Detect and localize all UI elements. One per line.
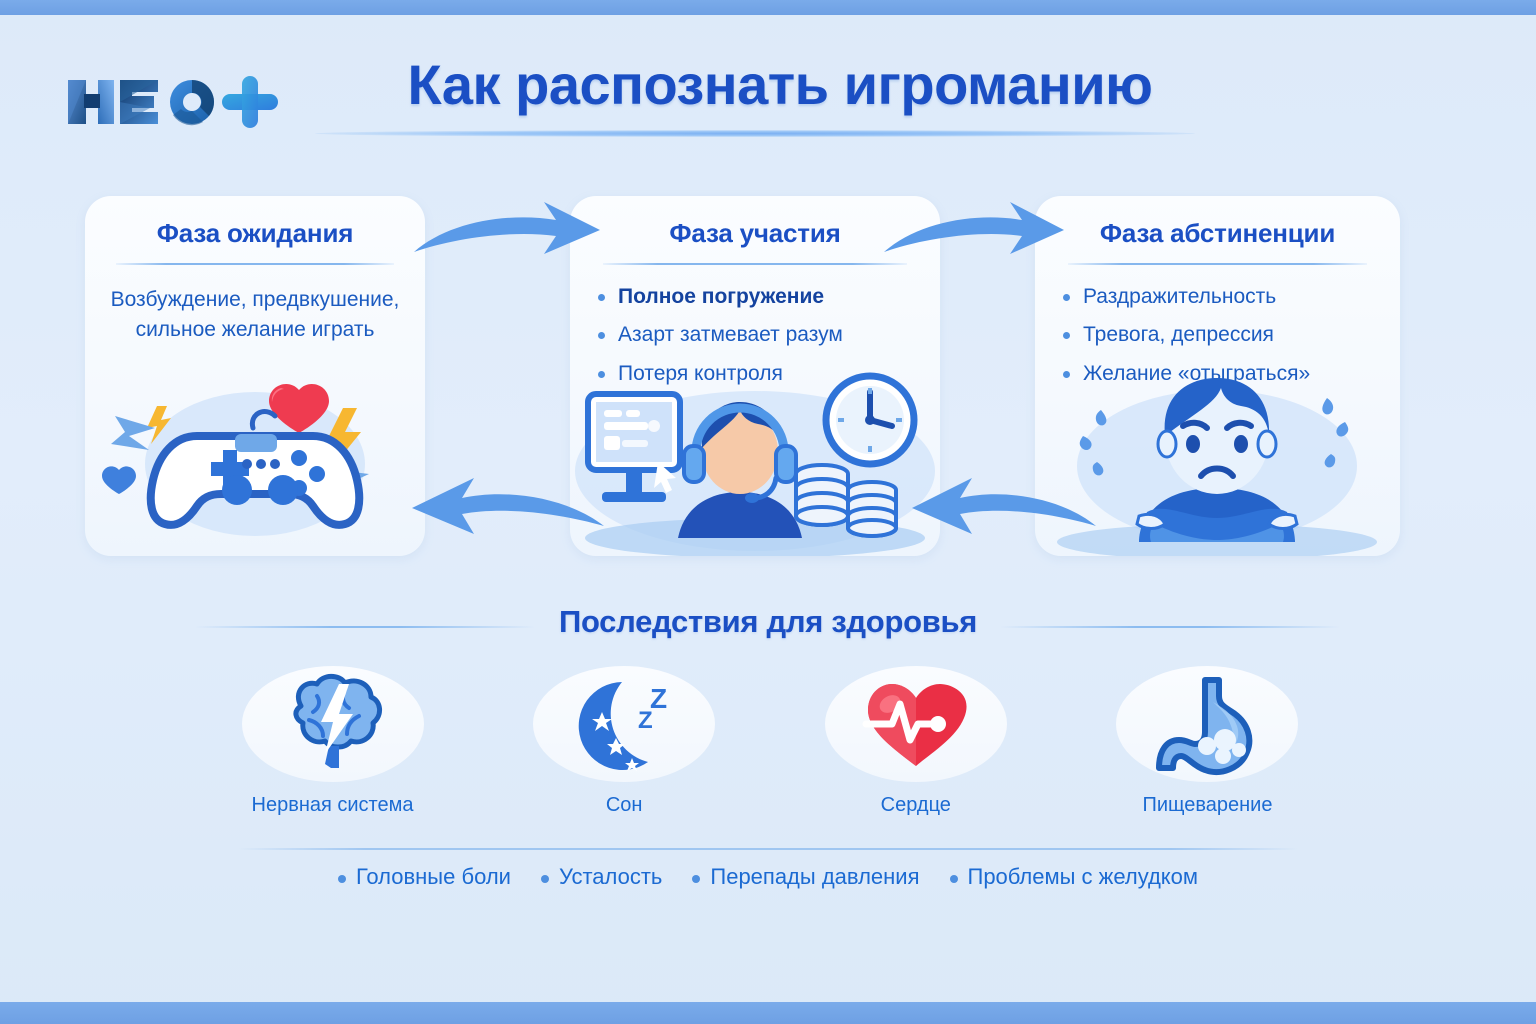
bottom-accent-bar <box>0 1002 1536 1024</box>
header: Как распознать игроманию <box>0 30 1536 130</box>
arrow-phase1-to-phase2 <box>408 196 608 266</box>
phase-card-lead: Возбуждение, предвкушение, сильное желан… <box>85 285 425 345</box>
stomach-icon <box>1149 672 1265 776</box>
symptom-item: Перепады давления <box>692 864 919 890</box>
symptom-item: Проблемы с желудком <box>950 864 1199 890</box>
list-item: Азарт затмевает разум <box>596 321 930 348</box>
icon-blob <box>825 666 1007 782</box>
phase-card-divider <box>1068 263 1367 265</box>
heading-rule-right <box>1000 626 1340 628</box>
health-item-label: Сон <box>606 794 643 817</box>
arrow-phase3-to-phase2 <box>900 468 1100 546</box>
svg-text:Z: Z <box>638 707 653 734</box>
health-icon-row: Нервная система Z Z Сон <box>225 666 1315 841</box>
arrow-phase2-to-phase3 <box>880 196 1070 266</box>
health-item-digestion[interactable]: Пищеварение <box>1100 666 1315 841</box>
health-item-nervous-system[interactable]: Нервная система <box>225 666 440 841</box>
phase-card-title: Фаза абстиненции <box>1035 218 1400 249</box>
phase-card-title: Фаза ожидания <box>85 218 425 249</box>
symptoms-divider <box>238 848 1298 850</box>
health-item-label: Сердце <box>881 794 951 817</box>
title-divider <box>315 130 1195 137</box>
health-item-label: Нервная система <box>252 794 414 817</box>
gamepad-hearts-illustration <box>85 366 425 556</box>
icon-blob: Z Z <box>533 666 715 782</box>
page-title: Как распознать игроманию <box>330 52 1230 117</box>
symptom-item: Головные боли <box>338 864 511 890</box>
list-item: Раздражительность <box>1061 283 1390 310</box>
consequences-heading: Последствия для здоровья <box>0 604 1536 648</box>
phase-card-divider <box>603 263 906 265</box>
brain-lightning-icon <box>273 672 393 776</box>
arrow-phase2-to-phase1 <box>400 468 610 546</box>
health-item-heart[interactable]: Сердце <box>808 666 1023 841</box>
infographic-canvas: Как распознать игроманию Фаза ожидания В… <box>0 0 1536 1024</box>
phase-card-expectation[interactable]: Фаза ожидания Возбуждение, предвкушение,… <box>85 196 425 556</box>
neo-plus-logo <box>40 62 300 134</box>
moon-sleep-icon: Z Z <box>564 672 684 776</box>
icon-blob <box>1116 666 1298 782</box>
symptom-item: Усталость <box>541 864 662 890</box>
heart-pulse-icon <box>858 672 974 776</box>
symptom-strip: Головные боли Усталость Перепады давлени… <box>0 864 1536 890</box>
list-item: Тревога, депрессия <box>1061 321 1390 348</box>
icon-blob <box>242 666 424 782</box>
health-item-label: Пищеварение <box>1142 794 1272 817</box>
list-item: Полное погружение <box>596 283 930 310</box>
phase-card-divider <box>116 263 395 265</box>
top-accent-bar <box>0 0 1536 15</box>
health-item-sleep[interactable]: Z Z Сон <box>517 666 732 841</box>
gamer-monitor-clock-coins-illustration <box>570 366 940 556</box>
consequences-heading-text: Последствия для здоровья <box>0 604 1536 640</box>
